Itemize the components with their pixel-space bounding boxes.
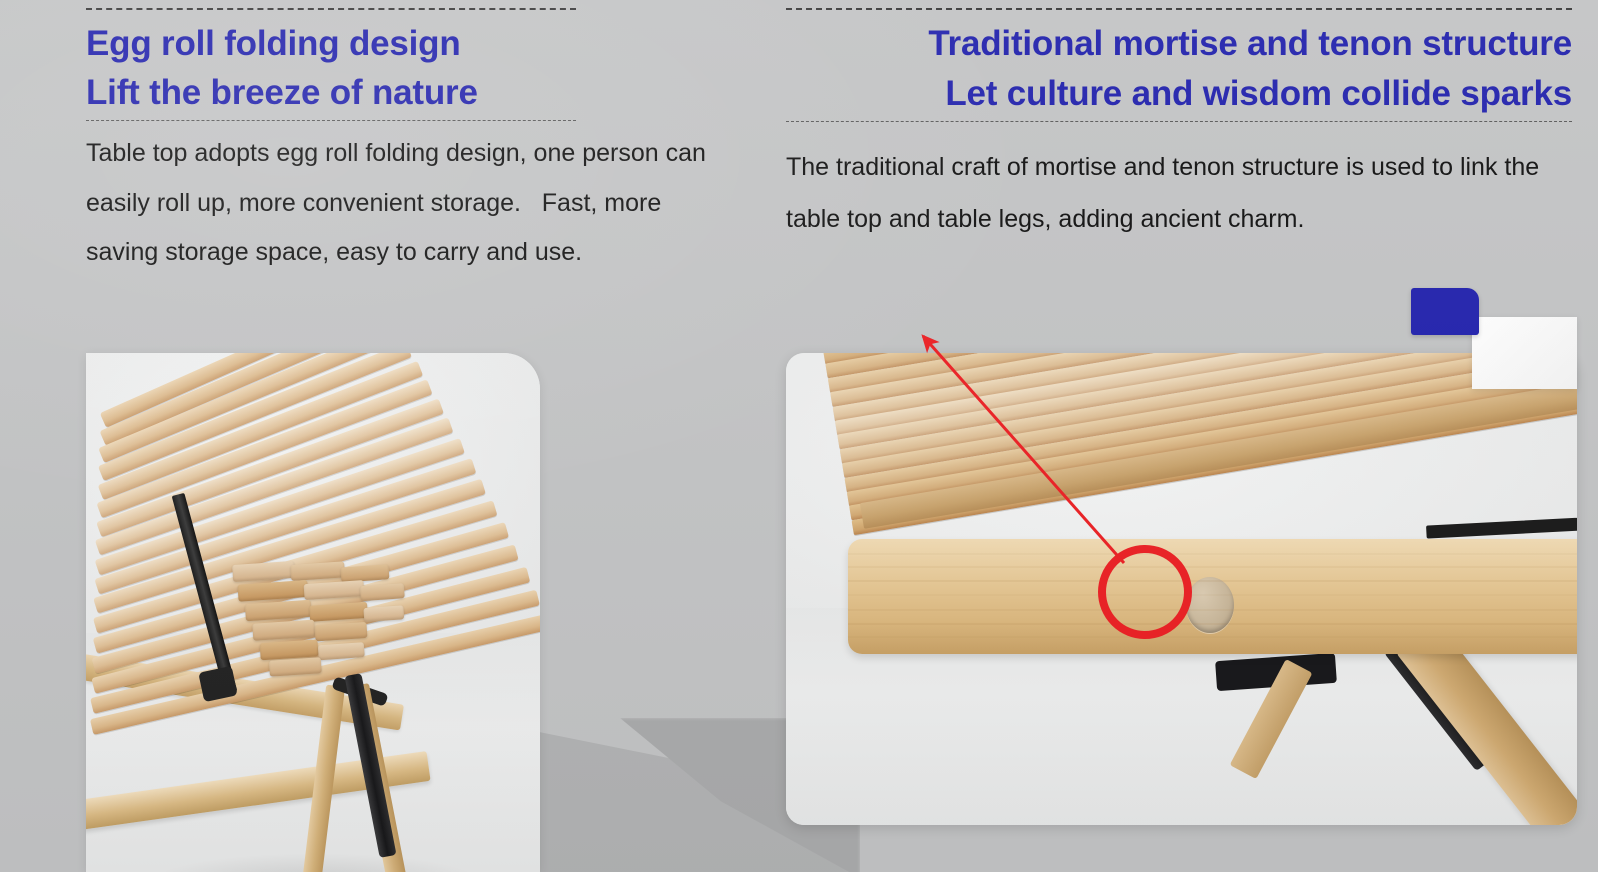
slide-canvas: Egg roll folding design Lift the breeze … [0,0,1598,872]
slat-end-grain [314,622,367,642]
right-heading-line-1: Traditional mortise and tenon structure [786,19,1572,69]
left-body-text: Table top adopts egg roll folding design… [86,129,726,278]
left-heading-line-1: Egg roll folding design [86,19,576,68]
slat-end-grain [252,620,315,641]
decorative-white-panel [1472,317,1577,389]
left-photo-subject [86,353,540,872]
slat-end-grain [318,642,365,660]
right-product-photo [786,353,1577,825]
slat-end-grain [245,600,312,622]
wood-grain-line [848,636,1577,638]
slat-end-grain [237,580,308,602]
under-brace-bar [1426,496,1577,538]
slat-end-grain [290,561,345,581]
right-photo-subject [786,353,1577,825]
slat-end-grain [304,580,365,600]
wood-grain-line [848,623,1577,625]
slat-end-grain [309,602,368,622]
rolled-slat-bundle [232,551,440,685]
slat-end-grain [269,657,322,677]
left-column: Egg roll folding design Lift the breeze … [86,8,576,278]
left-product-photo [86,353,540,872]
slat-end-grain [360,583,405,601]
left-heading-block: Egg roll folding design Lift the breeze … [86,8,576,121]
decorative-blue-tab [1411,288,1479,335]
slat-end-grain [232,561,295,582]
right-body-text: The traditional craft of mortise and ten… [786,142,1551,245]
wood-grain-line [848,566,1577,568]
wood-grain-line [848,609,1577,611]
slat-end-grain [340,564,389,582]
right-heading-block: Traditional mortise and tenon structure … [786,8,1572,122]
mortise-rail [848,539,1577,654]
left-heading-line-2: Lift the breeze of nature [86,68,576,117]
wood-grain-line [848,553,1577,555]
wood-grain-line [848,580,1577,582]
right-heading-line-2: Let culture and wisdom collide sparks [786,69,1572,119]
slat-end-grain [363,605,404,622]
right-column: Traditional mortise and tenon structure … [786,8,1572,245]
wood-grain-line [848,594,1577,596]
